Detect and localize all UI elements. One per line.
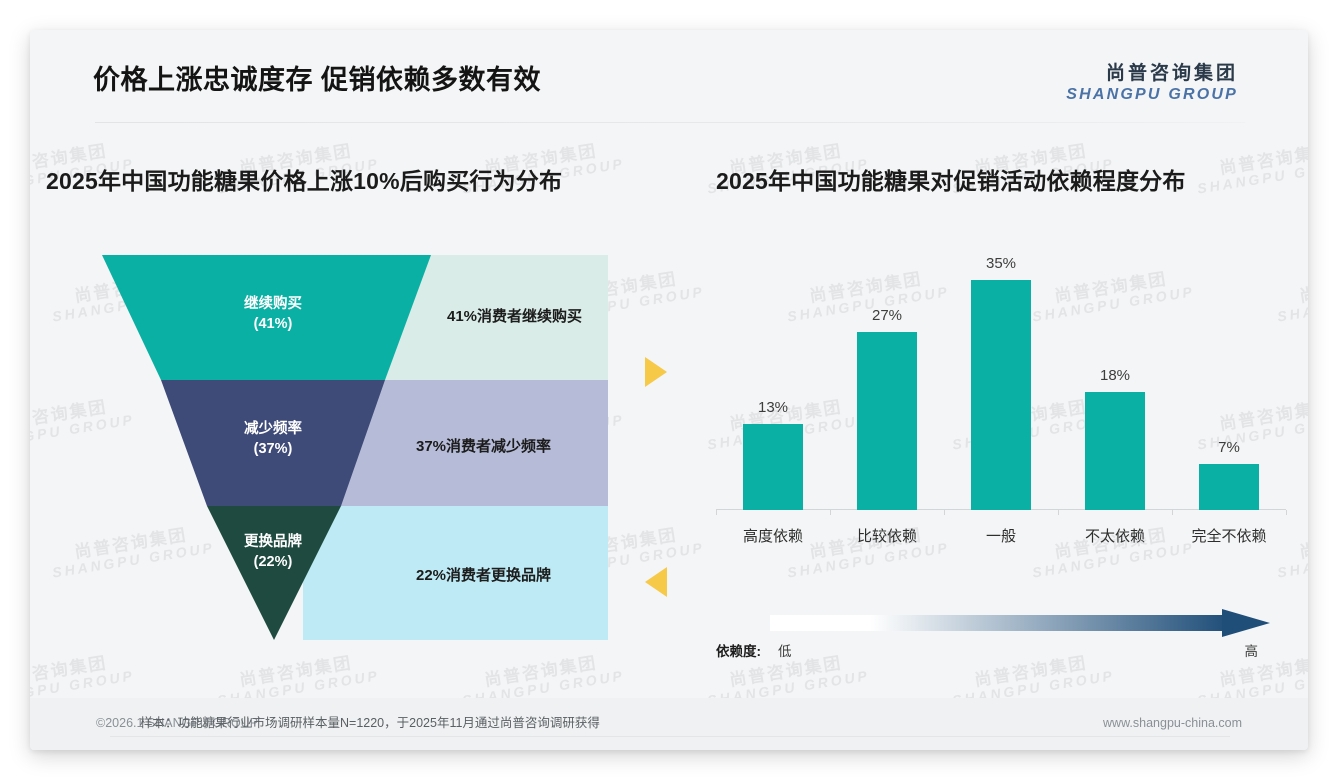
axis-tick <box>1286 510 1287 515</box>
header-divider <box>95 122 1245 123</box>
footer-website[interactable]: www.shangpu-china.com <box>1103 716 1242 730</box>
bar-比较依赖 <box>857 332 917 510</box>
dependency-gradient-legend: 依赖度: 低 高 <box>716 608 1286 678</box>
bar-value-label: 18% <box>1058 367 1172 384</box>
brand-logo: 尚普咨询集团 SHANGPU GROUP <box>1066 58 1238 104</box>
category-label-1: 比较依赖 <box>830 525 944 546</box>
bar-value-label: 35% <box>944 255 1058 272</box>
play-right-triangle-icon <box>643 355 669 389</box>
bar-chart: 13%高度依赖27%比较依赖35%一般18%不太依赖7%完全不依赖 <box>716 255 1286 595</box>
funnel-label-1-pct: (37%) <box>254 441 293 457</box>
funnel-label-2-pct: (22%) <box>254 554 293 570</box>
category-label-0: 高度依赖 <box>716 525 830 546</box>
watermark: 尚普咨询集团SHANGPU GROUP <box>1193 137 1308 197</box>
funnel-desc-2: 22%消费者更换品牌 <box>416 564 551 585</box>
category-label-3: 不太依赖 <box>1058 525 1172 546</box>
gradient-arrow-icon <box>770 608 1275 638</box>
category-label-4: 完全不依赖 <box>1172 525 1286 546</box>
bar-value-label: 13% <box>716 399 830 416</box>
funnel-desc-1: 37%消费者减少频率 <box>416 435 551 456</box>
funnel-label-1-text: 减少频率 <box>244 421 302 437</box>
axis-tick <box>830 510 831 515</box>
logo-english-text: SHANGPU GROUP <box>1066 86 1238 104</box>
bar-value-label: 7% <box>1172 439 1286 456</box>
logo-chinese-text: 尚普咨询集团 <box>1066 58 1238 85</box>
funnel-label-1: 减少频率 (37%) <box>193 420 353 459</box>
left-chart-title: 2025年中国功能糖果价格上涨10%后购买行为分布 <box>46 162 562 196</box>
sample-divider <box>110 736 1230 737</box>
funnel-desc-0: 41%消费者继续购买 <box>447 305 582 326</box>
bar-value-label: 27% <box>830 307 944 324</box>
legend-axis-label: 依赖度: <box>716 640 761 660</box>
axis-tick <box>1058 510 1059 515</box>
funnel-label-0-pct: (41%) <box>254 316 293 332</box>
play-left-triangle-icon <box>643 565 669 599</box>
funnel-label-0-text: 继续购买 <box>244 296 302 312</box>
funnel-label-2-text: 更换品牌 <box>244 534 302 550</box>
page-title: 价格上涨忠诚度存 促销依赖多数有效 <box>93 58 541 97</box>
sample-note: 样本：功能糖果行业市场调研样本量N=1220，于2025年11月通过尚普咨询调研… <box>140 712 600 731</box>
axis-tick <box>1172 510 1173 515</box>
category-label-2: 一般 <box>944 525 1058 546</box>
funnel-label-0: 继续购买 (41%) <box>193 295 353 334</box>
slide-header: 价格上涨忠诚度存 促销依赖多数有效 尚普咨询集团 SHANGPU GROUP <box>30 30 1308 118</box>
bar-完全不依赖 <box>1199 464 1259 510</box>
legend-high-label: 高 <box>1245 640 1259 660</box>
funnel-chart: 继续购买 (41%) 减少频率 (37%) 更换品牌 (22%) 41%消费者继… <box>98 255 608 640</box>
right-chart-title: 2025年中国功能糖果对促销活动依赖程度分布 <box>716 162 1186 196</box>
axis-tick <box>716 510 717 515</box>
funnel-label-2: 更换品牌 (22%) <box>193 533 353 572</box>
slide-card: 尚普咨询集团SHANGPU GROUP尚普咨询集团SHANGPU GROUP尚普… <box>30 30 1308 750</box>
legend-low-label: 低 <box>778 640 792 660</box>
bar-一般 <box>971 280 1031 510</box>
bar-高度依赖 <box>743 424 803 510</box>
bar-不太依赖 <box>1085 392 1145 510</box>
axis-tick <box>944 510 945 515</box>
